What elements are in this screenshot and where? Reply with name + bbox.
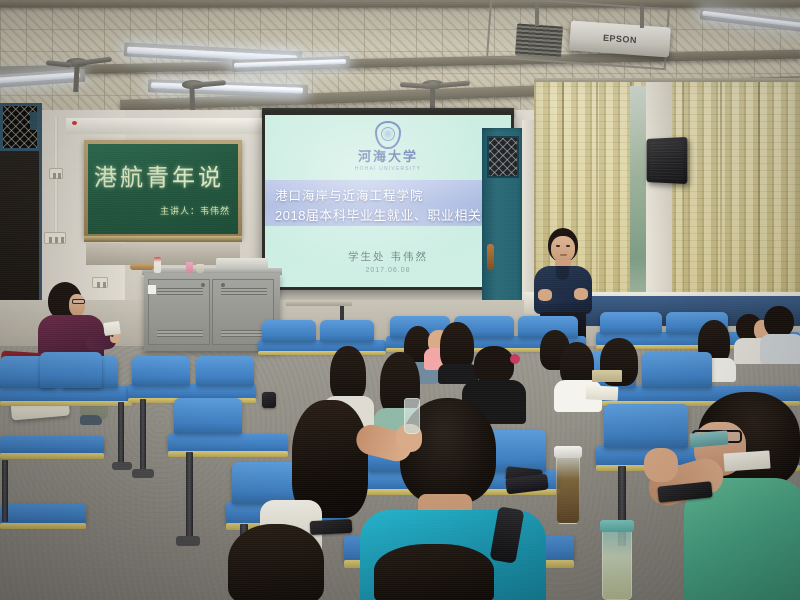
cabinet-vent bbox=[157, 288, 203, 295]
logo-english-name: HOHAI UNIVERSITY bbox=[265, 166, 511, 172]
presenter-collar bbox=[556, 266, 569, 280]
bottle-cap bbox=[554, 446, 582, 458]
hohai-crest-icon bbox=[375, 121, 401, 149]
desk-row-center-front bbox=[168, 434, 288, 452]
blackboard-title-text: 港航青年说 bbox=[94, 158, 234, 192]
clear-bottle bbox=[404, 398, 420, 434]
student-hair bbox=[228, 524, 324, 600]
presenter-eye-left bbox=[556, 245, 560, 247]
projection-screen: 河海大学 HOHAI UNIVERSITY 港口海岸与近海工程学院 2018届本… bbox=[262, 112, 514, 290]
folder bbox=[592, 370, 622, 382]
presentation-slide: 河海大学 HOHAI UNIVERSITY 港口海岸与近海工程学院 2018届本… bbox=[265, 115, 511, 287]
student-hair bbox=[374, 544, 494, 600]
desk-row-center-mid bbox=[128, 384, 256, 399]
university-logo: 河海大学 HOHAI UNIVERSITY bbox=[265, 121, 511, 172]
seat-back bbox=[320, 320, 374, 342]
student-hair bbox=[330, 346, 366, 402]
seat-back bbox=[40, 352, 102, 388]
logo-chinese-name: 河海大学 bbox=[265, 151, 511, 165]
slide-title-line-1: 港口海岸与近海工程学院 bbox=[275, 185, 424, 204]
seat-back bbox=[132, 356, 190, 386]
blackboard-subtitle-text: 主讲人：韦伟然 bbox=[160, 204, 230, 217]
cabinet-door-left[interactable] bbox=[148, 279, 210, 345]
wall-outlet-upper bbox=[49, 168, 63, 179]
paper-sheet bbox=[723, 450, 770, 471]
cabinet-knob[interactable] bbox=[221, 283, 225, 287]
desk-row-left-mid bbox=[0, 386, 132, 402]
paper-sheet-2 bbox=[586, 385, 619, 401]
slide-title-line-2: 2018届本科毕业生就业、职业相关问题交流 bbox=[275, 205, 511, 224]
speaker-grill bbox=[650, 141, 683, 179]
wall-white-strip bbox=[66, 118, 292, 134]
desk-leg bbox=[118, 402, 124, 466]
desk-leg bbox=[2, 460, 8, 522]
tea-bottle bbox=[556, 452, 580, 524]
blackboard: 港航青年说 主讲人：韦伟然 bbox=[84, 140, 242, 238]
hair-tie bbox=[510, 354, 520, 364]
desk-foot bbox=[112, 462, 132, 470]
desk-edge bbox=[0, 453, 104, 459]
desk-foot bbox=[132, 469, 154, 478]
slide-presenter-text: 学生处 韦伟然 bbox=[265, 249, 511, 264]
student-shirt bbox=[760, 334, 800, 364]
pink-cup bbox=[186, 262, 193, 273]
desk-row-left-front bbox=[0, 436, 104, 454]
seat-back bbox=[642, 352, 712, 388]
grille-mesh-right bbox=[489, 138, 517, 176]
presenter-hand-right bbox=[574, 288, 588, 300]
cabinet-knob[interactable] bbox=[201, 283, 205, 287]
door-window-grille bbox=[487, 136, 519, 178]
projector-brand-label: EPSON bbox=[570, 32, 670, 48]
glasses-icon bbox=[72, 299, 85, 304]
presenter-face bbox=[551, 236, 575, 262]
strip-indicator-dot bbox=[72, 121, 77, 125]
bottle-cap-teal bbox=[600, 520, 634, 532]
slide-date-text: 2017.06.08 bbox=[265, 267, 511, 274]
door-latch-icon[interactable] bbox=[30, 112, 37, 130]
smartphone-4[interactable] bbox=[262, 392, 276, 408]
desk-edge bbox=[0, 401, 132, 406]
door-handle[interactable] bbox=[487, 244, 494, 270]
wooden-pointer bbox=[130, 264, 154, 270]
smartphone-2[interactable] bbox=[310, 519, 353, 535]
student-hair bbox=[440, 322, 474, 370]
desk-edge bbox=[258, 351, 386, 355]
cabinet-vent bbox=[221, 288, 267, 295]
seat-back bbox=[174, 398, 242, 434]
cabinet-vent bbox=[221, 330, 267, 337]
blackboard-surface: 港航青年说 主讲人：韦伟然 bbox=[88, 144, 238, 234]
seat-back bbox=[604, 404, 688, 448]
person-shoe bbox=[80, 415, 102, 425]
desk-leg bbox=[140, 399, 146, 473]
student-head bbox=[474, 346, 514, 384]
desk-edge bbox=[0, 523, 86, 529]
desk-leg bbox=[186, 452, 193, 540]
person-face bbox=[69, 294, 85, 316]
projector-mount-rod bbox=[535, 4, 539, 26]
water-bottle bbox=[602, 528, 632, 600]
red-cap-bottle bbox=[154, 257, 161, 273]
presenter-eye-right bbox=[566, 245, 570, 247]
chalk-tray bbox=[84, 236, 242, 242]
seat-back bbox=[196, 356, 254, 386]
classroom-photo-scene: EPSON 港航青年说 主讲人：韦伟然 河海大学 HOHAI UNIVERSIT… bbox=[0, 0, 800, 600]
seat-back bbox=[600, 312, 662, 334]
wall-outlet-lower bbox=[44, 232, 66, 244]
projector-mount-rod-2 bbox=[640, 4, 644, 28]
presenter-hand-left bbox=[538, 289, 552, 301]
desk-row-left-frontmost bbox=[0, 504, 86, 524]
wall-mounted-speaker bbox=[646, 137, 687, 184]
cabinet-vent bbox=[157, 330, 203, 337]
desk-foot bbox=[176, 536, 200, 546]
small-box bbox=[196, 264, 204, 273]
notebook bbox=[103, 321, 121, 336]
seat-back bbox=[262, 320, 316, 342]
student-hand bbox=[644, 448, 678, 482]
cabinet-label-tag bbox=[148, 285, 156, 294]
ceiling-beam-top bbox=[0, 0, 800, 7]
projector-vent bbox=[515, 23, 563, 58]
presenter-mouth bbox=[560, 254, 567, 256]
